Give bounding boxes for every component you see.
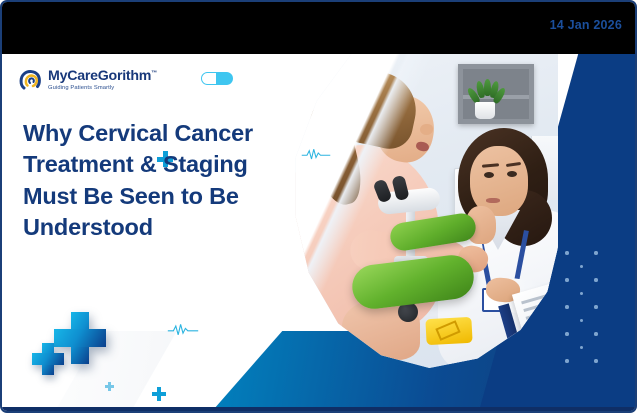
patient-nose (420, 124, 433, 135)
patient-hair-tie (368, 74, 384, 86)
ecg-heartbeat-icon-left (167, 322, 199, 338)
brand-trademark: ™ (151, 70, 157, 76)
doctor-eye-left (484, 172, 494, 178)
hero-photo (290, 54, 558, 368)
page-title: Why Cervical Cancer Treatment & Staging … (23, 118, 291, 243)
right-dot-grid (565, 251, 621, 366)
banner-stage: MyCareGorithm™ Guiding Patients Smartly … (2, 54, 637, 411)
medical-cross-icon-tiny (105, 382, 114, 391)
medical-cross-icon-small (32, 343, 64, 375)
ecg-heartbeat-icon-right (301, 147, 331, 162)
banner-date: 14 Jan 2026 (550, 18, 622, 32)
yellow-tray (425, 317, 472, 345)
doctor-mouth (486, 198, 500, 203)
doctor-eye-right (507, 171, 517, 177)
brand-logo-text: MyCareGorithm™ Guiding Patients Smartly (48, 68, 157, 92)
bottom-border (2, 407, 637, 411)
brand-logo[interactable]: MyCareGorithm™ Guiding Patients Smartly (18, 68, 157, 93)
medical-cross-icon-flat-bottom (152, 387, 166, 401)
hero-photo-image (290, 54, 558, 368)
brand-name-text: MyCareGorithm (48, 68, 151, 84)
capsule-toggle-icon[interactable] (201, 72, 233, 85)
top-bar: 14 Jan 2026 (2, 2, 637, 54)
brand-name: MyCareGorithm™ (48, 69, 157, 83)
brand-tagline: Guiding Patients Smartly (48, 86, 157, 92)
care-arch-icon (18, 68, 43, 93)
shelf-plant-pot (475, 102, 495, 119)
promo-banner-card: 14 Jan 2026 (0, 0, 637, 413)
